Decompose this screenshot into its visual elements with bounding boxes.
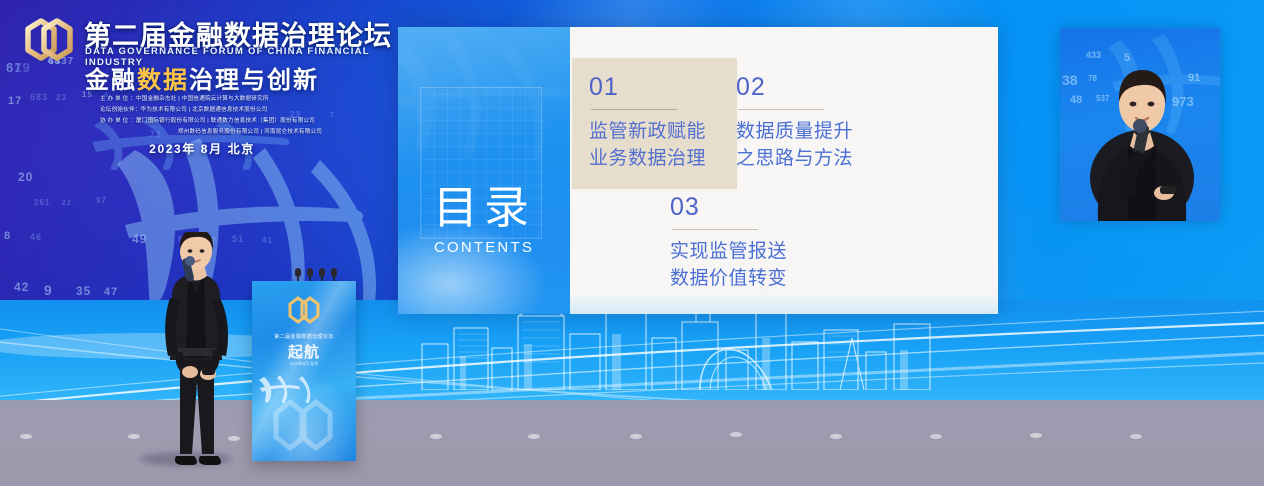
banner-theme-highlight: 数据 xyxy=(137,67,189,94)
slide-toc-title: 目录 CONTENTS xyxy=(398,185,570,255)
toc-item-03-rule xyxy=(672,229,758,230)
toc-title-cn: 目录 xyxy=(398,185,570,230)
organizer-line-3: 协 办 单 位 ：厦门国际银行股份有限公司 | 联通数力信息技术（集团）股份有限… xyxy=(100,116,400,127)
toc-title-en: CONTENTS xyxy=(398,240,570,255)
banner-theme: 金融数据治理与创新 xyxy=(85,60,319,95)
toc-item-01: 01 监管新政赋能 业务数据治理 xyxy=(572,58,737,189)
slide-bottom-accent xyxy=(570,292,998,314)
city-skyline-graphic xyxy=(400,304,960,390)
slide-left-panel: 目录 CONTENTS xyxy=(398,27,570,314)
toc-item-01-number: 01 xyxy=(589,75,727,100)
toc-item-02-number: 02 xyxy=(736,75,886,100)
organizer-line-1: 主 办 单 位 ：中国金融杂志社 | 中国信通院云计算与大数据研究所 xyxy=(100,94,400,105)
podium: 第二届金融数据治理论坛 起航 2023年8月 北京 xyxy=(252,281,356,461)
podium-date: 2023年8月 北京 xyxy=(252,361,356,367)
toc-item-01-text: 监管新政赋能 业务数据治理 xyxy=(589,119,727,173)
presentation-slide: 目录 CONTENTS 01 监管新政赋能 业务数据治理 02 数据质量提升 之… xyxy=(398,27,998,314)
banner-organizers: 主 办 单 位 ：中国金融杂志社 | 中国信通院云计算与大数据研究所 论坛创始伙… xyxy=(100,94,400,138)
toc-item-02-rule xyxy=(738,109,824,110)
slide-ghost-calligraphy xyxy=(398,33,570,163)
toc-item-03: 03 实现监管报送 数据价值转变 xyxy=(670,195,830,293)
toc-item-02-text: 数据质量提升 之思路与方法 xyxy=(736,119,886,173)
toc-item-03-number: 03 xyxy=(670,195,830,220)
speaker-on-stage xyxy=(150,232,242,468)
speaker-closeup-figure xyxy=(1060,28,1220,221)
organizer-line-4: 郑州数码信息服务股份有限公司 | 河南昆仑技术有限公司 xyxy=(100,127,400,138)
toc-item-03-text: 实现监管报送 数据价值转变 xyxy=(670,239,830,293)
toc-item-02: 02 数据质量提升 之思路与方法 xyxy=(736,75,886,173)
toc-item-01-rule xyxy=(591,109,677,110)
podium-title: 第二届金融数据治理论坛 xyxy=(252,333,356,340)
podium-big-text: 起航 xyxy=(252,341,356,362)
banner-theme-prefix: 金融 xyxy=(85,67,137,94)
podium-hexagon-logo xyxy=(284,293,324,329)
banner-theme-suffix: 治理与创新 xyxy=(189,67,319,94)
organizer-line-2: 论坛创始伙伴：华为技术有限公司 | 北京数据通信息技术股份公司 xyxy=(100,105,400,116)
speaker-closeup-video-panel: 4335387829148537973 xyxy=(1060,28,1220,221)
podium-ghost-logo xyxy=(266,393,342,455)
conference-stage-photo: 8196437176832315420261229784642935472446… xyxy=(0,0,1264,486)
banner-date-location: 2023年 8月 北京 xyxy=(0,140,404,157)
event-banner: 第二届金融数据治理论坛 DATA GOVERNANCE FORUM OF CHI… xyxy=(0,0,404,170)
forum-hexagon-logo xyxy=(20,12,78,68)
